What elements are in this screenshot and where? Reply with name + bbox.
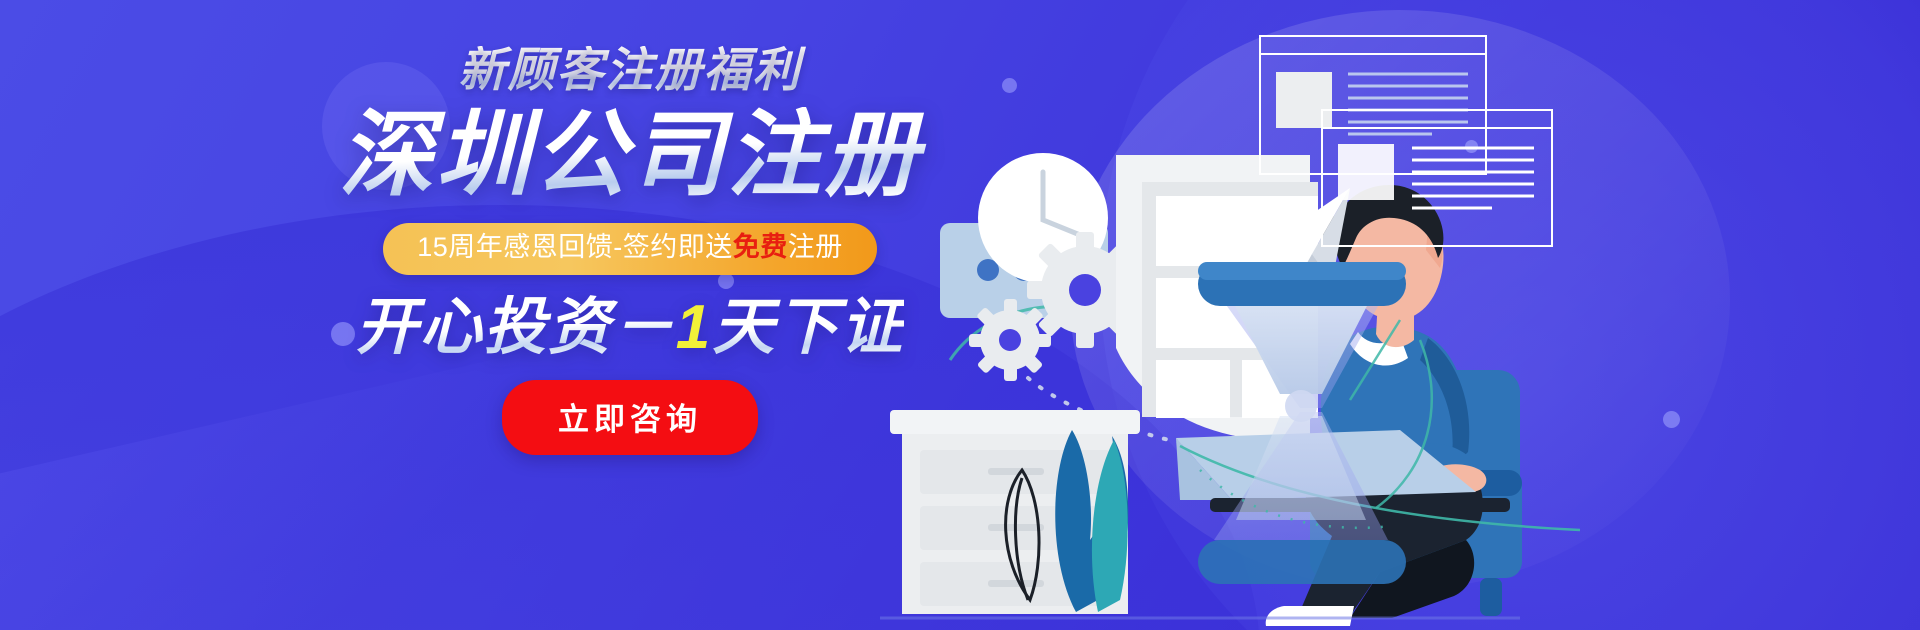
tagline-number: 1 (676, 293, 712, 362)
tagline-prefix: 开心投资－ (356, 293, 676, 362)
eyebrow-headline: 新顾客注册福利 (300, 46, 960, 93)
promo-badge-highlight: 免费 (733, 232, 788, 262)
promo-badge-lead: 15周年感恩回馈-签约即送 (417, 232, 733, 262)
tagline: 开心投资－1天下证 (300, 295, 960, 360)
promo-banner: 新顾客注册福利 深圳公司注册 15周年感恩回馈-签约即送免费注册 开心投资－1天… (0, 0, 1920, 630)
promo-badge: 15周年感恩回馈-签约即送免费注册 (383, 223, 877, 275)
page-title: 深圳公司注册 (300, 107, 960, 203)
hero-illustration (880, 0, 1920, 630)
consult-now-button[interactable]: 立即咨询 (502, 380, 758, 455)
promo-badge-tail: 注册 (788, 232, 843, 262)
copy-block: 新顾客注册福利 深圳公司注册 15周年感恩回馈-签约即送免费注册 开心投资－1天… (300, 46, 960, 455)
tagline-suffix: 天下证 (712, 293, 904, 362)
